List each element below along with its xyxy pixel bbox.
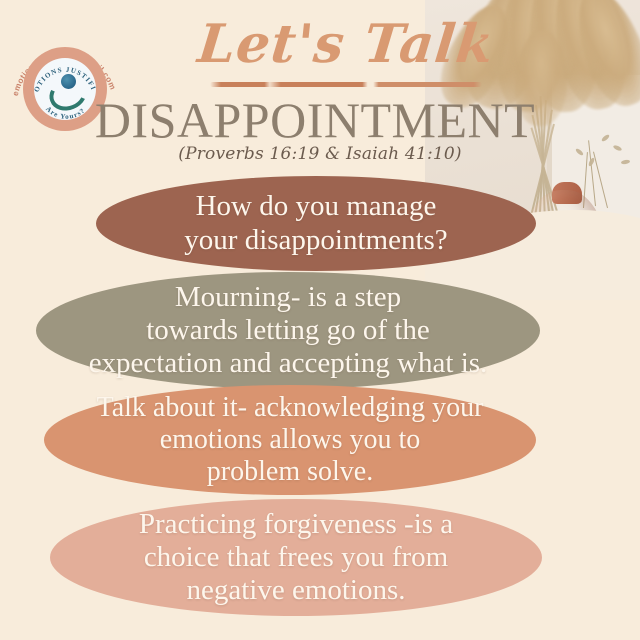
- poster-canvas: emotionsjustified@gmail.com EMOTIONS JUS…: [0, 0, 640, 640]
- content-ellipse-question: How do you manageyour disappointments?: [96, 176, 536, 271]
- content-ellipse-mourning: Mourning- is a steptowards letting go of…: [36, 272, 540, 389]
- ellipse-text: Practicing forgiveness -is achoice that …: [66, 508, 526, 607]
- globe-head-icon: [61, 74, 76, 89]
- ellipse-text: How do you manageyour disappointments?: [112, 190, 520, 256]
- content-ellipse-forgiveness: Practicing forgiveness -is achoice that …: [50, 499, 542, 616]
- scripture-reference: (Proverbs 16:19 & Isaiah 41:10): [120, 144, 520, 164]
- ellipse-text: Talk about it- acknowledging youremotion…: [60, 392, 520, 488]
- person-globe-icon: [48, 74, 82, 104]
- script-title-underline: [210, 82, 482, 87]
- content-ellipse-talk-about-it: Talk about it- acknowledging youremotion…: [44, 385, 536, 495]
- ellipse-text: Mourning- is a steptowards letting go of…: [52, 281, 524, 380]
- script-title: Let's Talk: [193, 18, 499, 71]
- page-title: DISAPPOINTMENT: [80, 94, 550, 147]
